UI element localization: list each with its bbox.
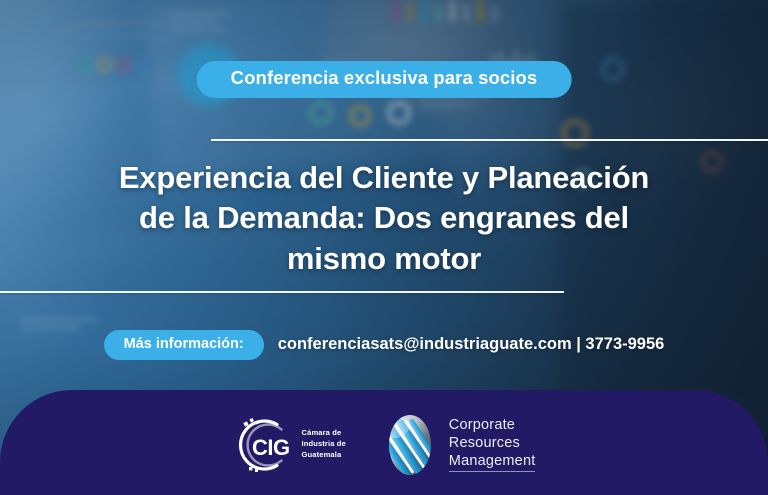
svg-text:CIG: CIG [252, 435, 290, 460]
poster-content: Conferencia exclusiva para socios Experi… [0, 0, 768, 495]
cig-logo: CIG Cámara de Industria de Guatemala [233, 415, 346, 475]
cig-text-line-1: Cámara de [302, 428, 346, 439]
exclusive-conference-badge: Conferencia exclusiva para socios [197, 61, 572, 98]
cig-text-line-2: Industria de [302, 439, 346, 450]
crm-text-line-1: Corporate [449, 417, 536, 435]
page-title: Experiencia del Cliente y Planeación de … [0, 158, 768, 279]
divider-line-bottom [0, 291, 564, 293]
cig-text-line-3: Guatemala [302, 450, 346, 461]
crm-logo-text: Corporate Resources Management [449, 417, 536, 471]
contact-details: conferenciasats@industriaguate.com | 377… [278, 335, 665, 354]
divider-line-top [211, 139, 768, 141]
crm-logo: Corporate Resources Management [382, 412, 536, 478]
contact-info-row: Más información: conferenciasats@industr… [0, 330, 768, 360]
headline-line-1: Experiencia del Cliente y Planeación [58, 158, 710, 198]
footer-panel: CIG Cámara de Industria de Guatemala [0, 390, 768, 495]
cig-emblem-icon: CIG [233, 415, 293, 475]
headline-line-3: mismo motor [58, 239, 710, 279]
headline-line-2: de la Demanda: Dos engranes del [58, 198, 710, 238]
crm-globe-icon [382, 412, 438, 478]
footer-logos: CIG Cámara de Industria de Guatemala [0, 390, 768, 495]
event-promo-poster: Conferencia exclusiva para socios Experi… [0, 0, 768, 495]
cig-logo-text: Cámara de Industria de Guatemala [302, 428, 346, 460]
more-info-pill: Más información: [104, 330, 264, 360]
crm-text-line-2: Resources [449, 435, 536, 453]
crm-text-line-3: Management [449, 453, 536, 472]
